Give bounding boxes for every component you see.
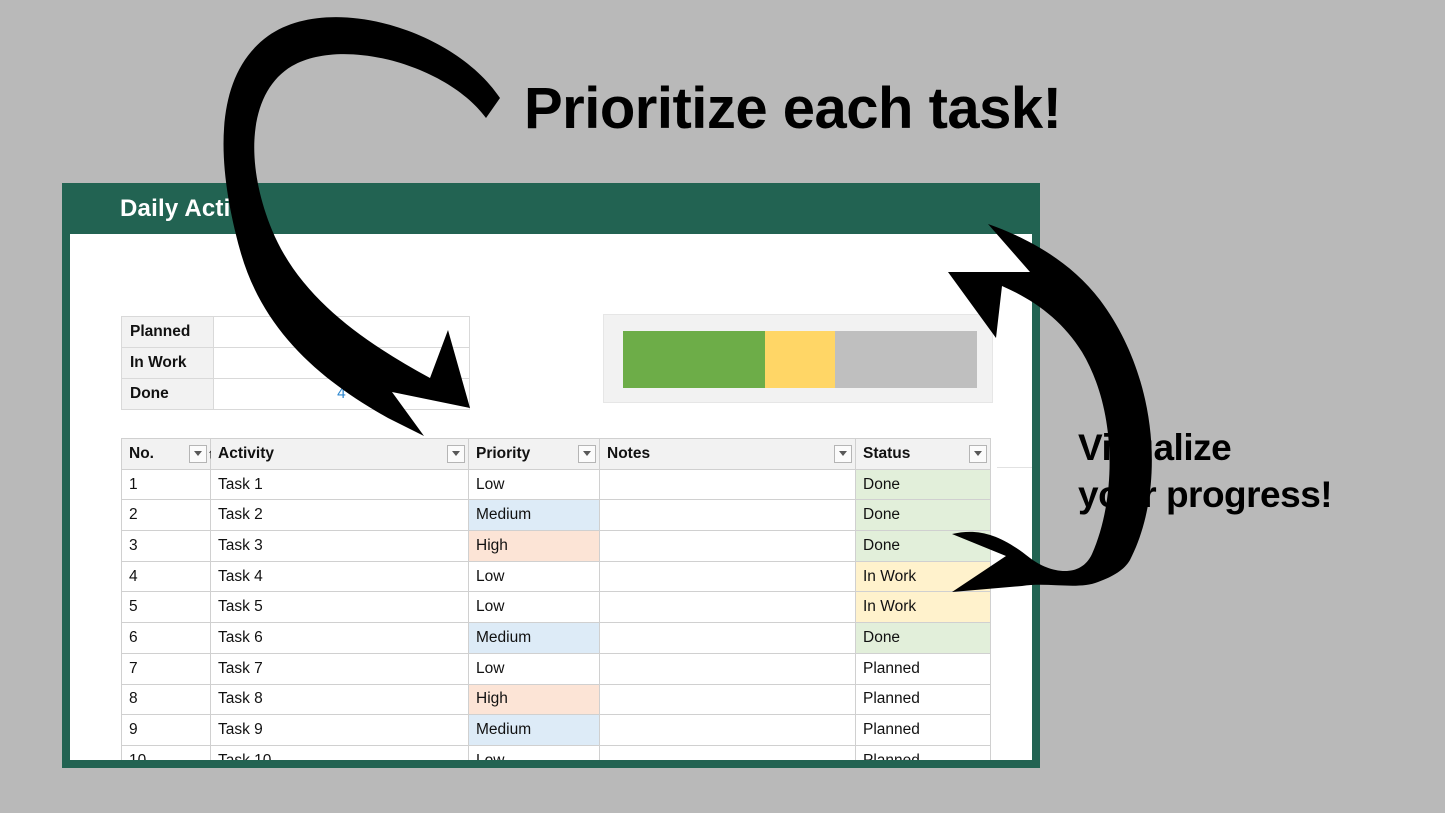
- column-header-status[interactable]: Status: [856, 439, 991, 470]
- column-header-activity[interactable]: Activity: [211, 439, 469, 470]
- column-header-notes[interactable]: Notes: [600, 439, 856, 470]
- cell-activity[interactable]: Task 10: [211, 745, 469, 760]
- cell-notes[interactable]: [600, 715, 856, 746]
- cell-activity[interactable]: Task 2: [211, 500, 469, 531]
- workbook-title: Daily Activit: [120, 195, 259, 223]
- cell-notes[interactable]: [600, 469, 856, 500]
- column-header-no[interactable]: No. ↑: [122, 439, 211, 470]
- table-header-row: No. ↑ Activity: [122, 439, 991, 470]
- column-header-no-label: No.: [129, 445, 154, 462]
- spreadsheet-window: Daily Activit Planned In Work Done 4: [62, 183, 1040, 768]
- summary-row-in-work[interactable]: In Work: [122, 348, 470, 379]
- annotation-visualize-text: Visualize your progress!: [1078, 424, 1332, 518]
- table-row[interactable]: 5Task 5LowIn Work: [122, 592, 991, 623]
- table-row[interactable]: 4Task 4LowIn Work: [122, 561, 991, 592]
- column-header-priority[interactable]: Priority: [469, 439, 600, 470]
- cell-notes[interactable]: [600, 531, 856, 562]
- summary-value-in-work[interactable]: [213, 348, 469, 379]
- progress-segment-in-work: [765, 331, 836, 388]
- cell-activity[interactable]: Task 9: [211, 715, 469, 746]
- annotation-prioritize-text: Prioritize each task!: [524, 74, 1062, 144]
- table-row[interactable]: 9Task 9MediumPlanned: [122, 715, 991, 746]
- table-row[interactable]: 1Task 1LowDone: [122, 469, 991, 500]
- column-header-activity-label: Activity: [218, 445, 274, 462]
- cell-activity[interactable]: Task 6: [211, 623, 469, 654]
- cell-notes[interactable]: [600, 592, 856, 623]
- filter-dropdown-priority-icon[interactable]: [578, 445, 596, 463]
- cell-priority[interactable]: Medium: [469, 623, 600, 654]
- cell-no[interactable]: 2: [122, 500, 211, 531]
- cell-no[interactable]: 9: [122, 715, 211, 746]
- cell-priority[interactable]: Low: [469, 561, 600, 592]
- cell-notes[interactable]: [600, 653, 856, 684]
- summary-value-done[interactable]: 4: [213, 379, 469, 410]
- activity-table: No. ↑ Activity: [121, 438, 991, 760]
- cell-status[interactable]: Done: [856, 531, 991, 562]
- column-header-notes-label: Notes: [607, 445, 650, 462]
- activity-table-body: 1Task 1LowDone2Task 2MediumDone3Task 3Hi…: [122, 469, 991, 760]
- table-row[interactable]: 6Task 6MediumDone: [122, 623, 991, 654]
- cell-no[interactable]: 7: [122, 653, 211, 684]
- cell-no[interactable]: 5: [122, 592, 211, 623]
- chevron-down-icon: [452, 451, 460, 456]
- progress-segment-planned: [835, 331, 977, 388]
- cell-priority[interactable]: Low: [469, 745, 600, 760]
- cell-notes[interactable]: [600, 745, 856, 760]
- progress-chart-plot: [623, 331, 977, 388]
- table-row[interactable]: 7Task 7LowPlanned: [122, 653, 991, 684]
- filter-dropdown-no-icon[interactable]: ↑: [189, 445, 207, 463]
- annotation-visualize-line1: Visualize: [1078, 424, 1332, 471]
- cell-priority[interactable]: High: [469, 531, 600, 562]
- sheet-gridline: [997, 467, 1032, 468]
- table-row[interactable]: 2Task 2MediumDone: [122, 500, 991, 531]
- chevron-down-icon: [839, 451, 847, 456]
- chevron-down-icon: [583, 451, 591, 456]
- cell-activity[interactable]: Task 3: [211, 531, 469, 562]
- summary-label-planned: Planned: [122, 317, 214, 348]
- cell-no[interactable]: 4: [122, 561, 211, 592]
- summary-label-done: Done: [122, 379, 214, 410]
- annotation-visualize-line2: your progress!: [1078, 471, 1332, 518]
- cell-status[interactable]: Done: [856, 469, 991, 500]
- cell-priority[interactable]: Low: [469, 592, 600, 623]
- cell-notes[interactable]: [600, 561, 856, 592]
- cell-priority[interactable]: Medium: [469, 715, 600, 746]
- cell-activity[interactable]: Task 4: [211, 561, 469, 592]
- chevron-down-icon: [194, 451, 202, 456]
- cell-status[interactable]: In Work: [856, 592, 991, 623]
- cell-no[interactable]: 8: [122, 684, 211, 715]
- chevron-down-icon: [974, 451, 982, 456]
- progress-chart[interactable]: [603, 314, 993, 403]
- cell-priority[interactable]: Medium: [469, 500, 600, 531]
- cell-priority[interactable]: Low: [469, 469, 600, 500]
- cell-status[interactable]: Planned: [856, 745, 991, 760]
- cell-status[interactable]: Planned: [856, 684, 991, 715]
- cell-notes[interactable]: [600, 500, 856, 531]
- cell-no[interactable]: 6: [122, 623, 211, 654]
- cell-no[interactable]: 3: [122, 531, 211, 562]
- cell-activity[interactable]: Task 1: [211, 469, 469, 500]
- summary-value-planned[interactable]: [213, 317, 469, 348]
- filter-dropdown-notes-icon[interactable]: [834, 445, 852, 463]
- cell-status[interactable]: Planned: [856, 653, 991, 684]
- status-summary-table: Planned In Work Done 4: [121, 316, 470, 410]
- screenshot-canvas: Daily Activit Planned In Work Done 4: [0, 0, 1445, 813]
- summary-row-done[interactable]: Done 4: [122, 379, 470, 410]
- progress-segment-done: [623, 331, 765, 388]
- worksheet-area[interactable]: Planned In Work Done 4: [70, 234, 1032, 760]
- cell-activity[interactable]: Task 5: [211, 592, 469, 623]
- cell-activity[interactable]: Task 8: [211, 684, 469, 715]
- filter-dropdown-activity-icon[interactable]: [447, 445, 465, 463]
- column-header-status-label: Status: [863, 445, 910, 462]
- summary-row-planned[interactable]: Planned: [122, 317, 470, 348]
- cell-status[interactable]: In Work: [856, 561, 991, 592]
- cell-activity[interactable]: Task 7: [211, 653, 469, 684]
- cell-priority[interactable]: Low: [469, 653, 600, 684]
- cell-priority[interactable]: High: [469, 684, 600, 715]
- filter-dropdown-status-icon[interactable]: [969, 445, 987, 463]
- cell-no[interactable]: 1: [122, 469, 211, 500]
- cell-status[interactable]: Done: [856, 623, 991, 654]
- cell-status[interactable]: Planned: [856, 715, 991, 746]
- cell-status[interactable]: Done: [856, 500, 991, 531]
- table-row[interactable]: 3Task 3HighDone: [122, 531, 991, 562]
- cell-notes[interactable]: [600, 684, 856, 715]
- cell-notes[interactable]: [600, 623, 856, 654]
- workbook-title-bar: Daily Activit: [70, 183, 1032, 234]
- column-header-priority-label: Priority: [476, 445, 530, 462]
- summary-label-in-work: In Work: [122, 348, 214, 379]
- table-row[interactable]: 8Task 8HighPlanned: [122, 684, 991, 715]
- table-row[interactable]: 10Task 10LowPlanned: [122, 745, 991, 760]
- cell-no[interactable]: 10: [122, 745, 211, 760]
